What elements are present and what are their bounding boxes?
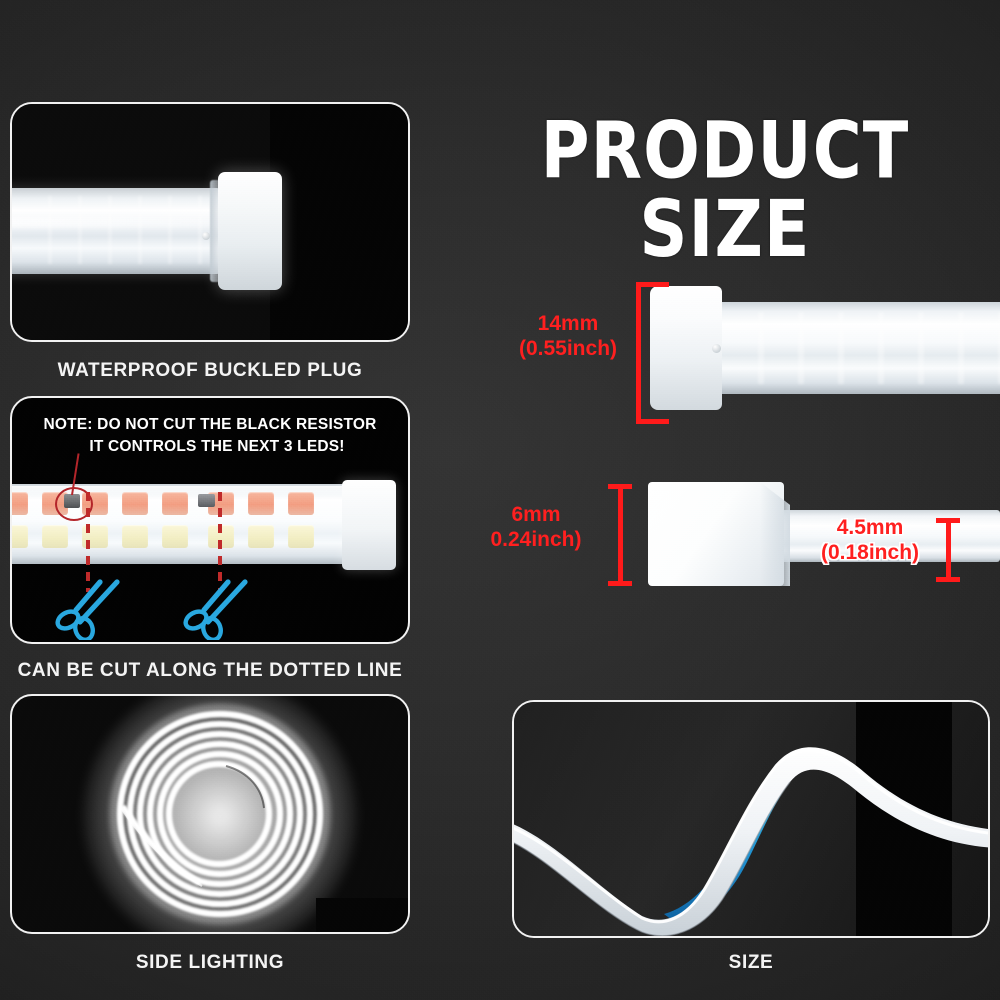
dimension-value-mm: 4.5mm: [800, 516, 940, 541]
product-size-infographic: PRODUCT SIZE WATERPROOF BUCKLED PLUG NOT…: [0, 0, 1000, 1000]
scissors-icon: [54, 576, 128, 640]
coil-rings: [120, 714, 320, 914]
bent-strip-illustration: [514, 702, 988, 936]
hero-product-top: [650, 286, 1000, 410]
note-line-1: NOTE: DO NOT CUT THE BLACK RESISTOR: [43, 416, 376, 433]
end-cap-bevel: [760, 482, 790, 586]
led-chip-warm: [288, 492, 314, 515]
silicone-strip-ribbon: [514, 747, 988, 936]
caption-size: SIZE: [512, 952, 990, 974]
caption-side-lighting: SIDE LIGHTING: [10, 952, 410, 974]
silicone-tube-ribbing: [724, 312, 1000, 384]
size-bend-photo: [514, 702, 988, 936]
dimension-value-mm: 14mm: [498, 312, 638, 337]
dimension-label-14mm: 14mm (0.55inch): [498, 312, 638, 362]
dimension-marker-6mm: [608, 484, 632, 586]
caption-cuttable-strip: CAN BE CUT ALONG THE DOTTED LINE: [10, 660, 410, 682]
led-pair: [12, 492, 28, 550]
marker-cap-bottom: [936, 577, 960, 582]
led-chip-warm: [162, 492, 188, 515]
led-chip-cool: [122, 525, 148, 548]
panel-size-bend: [512, 700, 990, 938]
led-pair: [288, 492, 314, 550]
black-resistor-secondary: [198, 494, 215, 507]
marker-cap-bottom: [608, 581, 632, 586]
led-chip-cool: [248, 525, 274, 548]
side-lighting-photo: [12, 696, 408, 932]
dimension-value-inch: 0.24inch): [466, 528, 606, 553]
dimension-value-inch: (0.18inch): [800, 541, 940, 566]
marker-stem: [946, 518, 951, 582]
photo-backdrop-dark-band: [270, 104, 408, 340]
led-chip-warm: [12, 492, 28, 515]
led-chip-cool: [162, 525, 188, 548]
marker-stem: [618, 484, 623, 586]
dimension-label-4-5mm: 4.5mm (0.18inch): [800, 516, 940, 566]
note-line-2: IT CONTROLS THE NEXT 3 LEDS!: [12, 436, 408, 458]
dimension-value-inch: (0.55inch): [498, 337, 638, 362]
led-chip-warm: [248, 492, 274, 515]
panel-cuttable-strip: NOTE: DO NOT CUT THE BLACK RESISTOR IT C…: [10, 396, 410, 644]
panel-waterproof-plug: [10, 102, 410, 342]
led-chip-cool: [42, 525, 68, 548]
photo-corner-shadow: [316, 898, 408, 932]
dimension-label-6mm: 6mm 0.24inch): [466, 503, 606, 553]
led-pair: [122, 492, 148, 550]
end-cap-nub: [712, 344, 721, 353]
panel-side-lighting: [10, 694, 410, 934]
waterproof-end-cap: [218, 172, 282, 290]
dimension-value-mm: 6mm: [466, 503, 606, 528]
scissors-icon: [182, 576, 256, 640]
cut-warning-note: NOTE: DO NOT CUT THE BLACK RESISTOR IT C…: [12, 414, 408, 458]
led-pair: [248, 492, 274, 550]
waterproof-plug-photo: [12, 104, 408, 340]
page-title: PRODUCT SIZE: [444, 112, 1000, 268]
dimension-bracket-14mm: [636, 282, 669, 424]
end-cap-nub: [202, 232, 210, 240]
led-chip-cool: [12, 525, 28, 548]
strip-end-cap: [342, 480, 396, 570]
silicone-tube-ribbing: [22, 196, 220, 264]
coiled-strip-illustration: [12, 696, 408, 932]
led-pair: [162, 492, 188, 550]
cuttable-strip-photo: NOTE: DO NOT CUT THE BLACK RESISTOR IT C…: [12, 398, 408, 642]
led-chip-cool: [288, 525, 314, 548]
caption-waterproof-plug: WATERPROOF BUCKLED PLUG: [10, 360, 410, 382]
led-chip-warm: [122, 492, 148, 515]
